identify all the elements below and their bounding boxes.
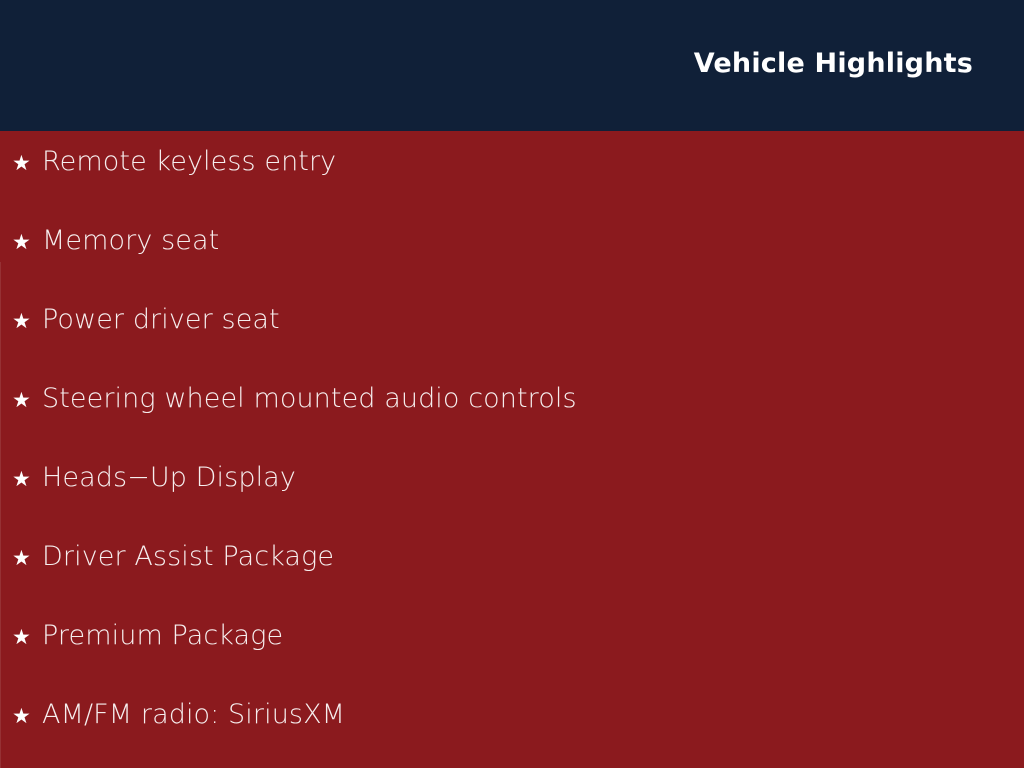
list-item-label: Driver Assist Package: [42, 543, 1024, 570]
star-icon: ★: [12, 311, 42, 332]
list-item-label: AM/FM radio: SiriusXM: [42, 701, 1024, 728]
list-item: ★ Memory seat: [0, 227, 1024, 306]
star-icon: ★: [12, 706, 42, 727]
list-item-label: Remote keyless entry: [42, 148, 1024, 175]
list-item-label: Power driver seat: [42, 306, 1024, 333]
slide-header-band: Vehicle Highlights: [0, 0, 1024, 131]
star-icon: ★: [12, 469, 42, 490]
list-item: ★ Heads−Up Display: [0, 464, 1024, 543]
list-item-label: Memory seat: [42, 227, 1024, 254]
slide-body: ★ Remote keyless entry ★ Memory seat ★ P…: [0, 131, 1024, 768]
vehicle-highlights-list: ★ Remote keyless entry ★ Memory seat ★ P…: [0, 148, 1024, 768]
list-item: ★ Remote keyless entry: [0, 148, 1024, 227]
list-item: ★ Power driver seat: [0, 306, 1024, 385]
list-item: ★ AM/FM radio: SiriusXM: [0, 701, 1024, 768]
star-icon: ★: [12, 548, 42, 569]
list-item-label: Heads−Up Display: [42, 464, 1024, 491]
list-item: ★ Steering wheel mounted audio controls: [0, 385, 1024, 464]
list-item-label: Steering wheel mounted audio controls: [42, 385, 1024, 412]
list-item: ★ Premium Package: [0, 622, 1024, 701]
star-icon: ★: [12, 390, 42, 411]
star-icon: ★: [12, 627, 42, 648]
slide-vehicle-highlights: Vehicle Highlights ★ Remote keyless entr…: [0, 0, 1024, 768]
star-icon: ★: [12, 232, 42, 253]
star-icon: ★: [12, 153, 42, 174]
page-title: Vehicle Highlights: [694, 50, 973, 77]
list-item: ★ Driver Assist Package: [0, 543, 1024, 622]
list-item-label: Premium Package: [42, 622, 1024, 649]
